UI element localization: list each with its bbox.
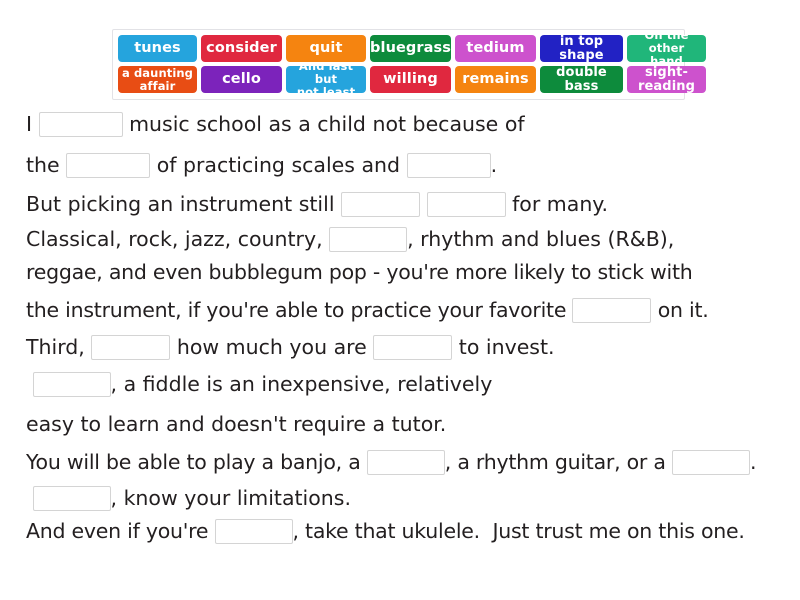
text-segment: music school as a child not because of — [123, 114, 525, 135]
text-segment: And even if you're — [26, 521, 215, 542]
text-segment: , a fiddle is an inexpensive, relatively — [111, 374, 493, 395]
sentence-line-8: , a fiddle is an inexpensive, relatively — [26, 364, 782, 404]
blank-input-12[interactable] — [672, 450, 750, 475]
sentence-line-9: easy to learn and doesn't require a tuto… — [26, 404, 782, 444]
blank-input-4[interactable] — [341, 192, 420, 217]
word-tile-remains[interactable]: remains — [455, 66, 536, 93]
blank-input-14[interactable] — [215, 519, 293, 544]
word-tile-a-daunting-affair[interactable]: a daunting affair — [118, 66, 197, 93]
text-segment: , take that ukulele. Just trust me on th… — [293, 521, 745, 542]
blank-input-2[interactable] — [66, 153, 150, 178]
text-segment: , know your limitations. — [111, 488, 351, 509]
blank-input-11[interactable] — [367, 450, 445, 475]
word-tile-consider[interactable]: consider — [201, 35, 282, 62]
word-tile-and-last-but-not-least[interactable]: And last but not least — [286, 66, 366, 93]
text-segment: how much you are — [170, 337, 373, 358]
sentence-line-2: the of practicing scales and . — [26, 144, 782, 186]
sentence-line-6: the instrument, if you're able to practi… — [26, 289, 782, 331]
text-segment: I — [26, 114, 39, 135]
sentence-line-1: I music school as a child not because of — [26, 104, 782, 144]
text-segment: to invest. — [452, 337, 554, 358]
text-segment: easy to learn and doesn't require a tuto… — [26, 414, 446, 435]
blank-input-3[interactable] — [407, 153, 491, 178]
text-segment: , rhythm and blues (R&B), — [407, 229, 674, 250]
word-tile-tunes[interactable]: tunes — [118, 35, 197, 62]
text-segment: for many. — [506, 194, 608, 215]
blank-input-10[interactable] — [33, 372, 111, 397]
text-segment: , a rhythm guitar, or a — [445, 452, 672, 473]
text-segment — [26, 374, 33, 395]
word-tile-cello[interactable]: cello — [201, 66, 282, 93]
word-bank: tunes consider quit bluegrass tedium in … — [112, 29, 685, 100]
paragraph-3: Third, how much you are to invest. , a f… — [26, 331, 782, 444]
word-bank-row-1: tunes consider quit bluegrass tedium in … — [118, 35, 679, 62]
blank-input-8[interactable] — [91, 335, 170, 360]
text-segment — [420, 194, 427, 215]
text-segment — [26, 488, 33, 509]
text-segment: But picking an instrument still — [26, 194, 341, 215]
blank-input-6[interactable] — [329, 227, 407, 252]
word-tile-in-top-shape[interactable]: in top shape — [540, 35, 623, 62]
exercise-body: I music school as a child not because of… — [26, 104, 782, 547]
word-tile-bluegrass[interactable]: bluegrass — [370, 35, 451, 62]
sentence-line-10: You will be able to play a banjo, a , a … — [26, 444, 782, 481]
text-segment: You will be able to play a banjo, a — [26, 452, 367, 473]
word-tile-quit[interactable]: quit — [286, 35, 366, 62]
blank-input-9[interactable] — [373, 335, 452, 360]
text-segment: the — [26, 155, 66, 176]
sentence-line-11: , know your limitations. — [26, 481, 782, 515]
paragraph-2: But picking an instrument still for many… — [26, 186, 782, 331]
sentence-line-5: reggae, and even bubblegum pop - you're … — [26, 256, 782, 289]
text-segment: the instrument, if you're able to practi… — [26, 300, 572, 321]
word-tile-sight-reading[interactable]: sight-reading — [627, 66, 706, 93]
paragraph-4: You will be able to play a banjo, a , a … — [26, 444, 782, 547]
word-tile-on-the-other-hand[interactable]: On the other hand — [627, 35, 706, 62]
blank-input-13[interactable] — [33, 486, 111, 511]
blank-input-1[interactable] — [39, 112, 123, 137]
text-segment: on it. — [651, 300, 708, 321]
word-tile-double-bass[interactable]: double bass — [540, 66, 623, 93]
text-segment: Third, — [26, 337, 91, 358]
blank-input-7[interactable] — [572, 298, 651, 323]
sentence-line-12: And even if you're , take that ukulele. … — [26, 515, 782, 547]
sentence-line-7: Third, how much you are to invest. — [26, 331, 782, 364]
sentence-line-3: But picking an instrument still for many… — [26, 186, 782, 223]
word-tile-willing[interactable]: willing — [370, 66, 451, 93]
text-segment: . — [491, 155, 498, 176]
blank-input-5[interactable] — [427, 192, 506, 217]
word-bank-row-2: a daunting affair cello And last but not… — [118, 66, 679, 93]
text-segment: of practicing scales and — [150, 155, 406, 176]
text-segment: reggae, and even bubblegum pop - you're … — [26, 262, 693, 283]
text-segment: Classical, rock, jazz, country, — [26, 229, 329, 250]
paragraph-1: I music school as a child not because of… — [26, 104, 782, 186]
sentence-line-4: Classical, rock, jazz, country, , rhythm… — [26, 223, 782, 256]
word-tile-tedium[interactable]: tedium — [455, 35, 536, 62]
text-segment: . — [750, 452, 756, 473]
